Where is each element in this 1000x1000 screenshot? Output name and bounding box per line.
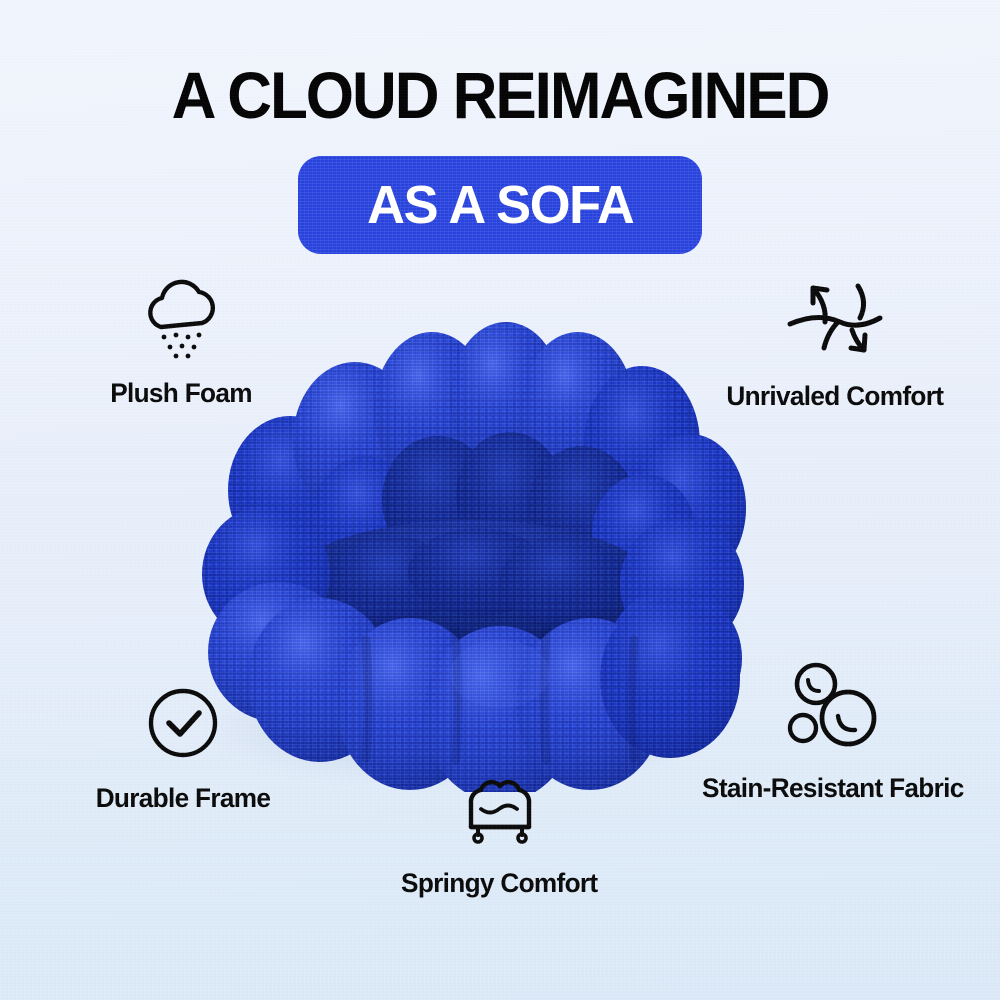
bubbles-icon: [778, 662, 888, 759]
sofa-icon: [445, 765, 555, 856]
page-title: A CLOUD REIMAGINED: [30, 62, 970, 128]
feature-plush-foam: Plush Foam: [56, 275, 306, 409]
feature-springy-comfort: Springy Comfort: [372, 765, 627, 899]
sofa-highlight: [450, 640, 550, 708]
subtitle-badge: AS A SOFA: [298, 156, 702, 254]
feature-label: Springy Comfort: [401, 868, 597, 899]
feature-unrivaled-comfort: Unrivaled Comfort: [690, 272, 980, 412]
feature-stain-resistant-fabric: Stain-Resistant Fabric: [678, 662, 988, 804]
subtitle-badge-label: AS A SOFA: [367, 174, 633, 236]
feature-label: Unrivaled Comfort: [727, 381, 944, 412]
cloud-drizzle-icon: [131, 275, 231, 368]
feature-label: Stain-Resistant Fabric: [702, 773, 964, 804]
poster-canvas: A CLOUD REIMAGINED AS A SOFA Plush Foam: [0, 0, 1000, 1000]
check-circle-icon: [140, 680, 226, 771]
feature-label: Durable Frame: [96, 783, 271, 814]
feature-label: Plush Foam: [110, 378, 252, 409]
feature-durable-frame: Durable Frame: [58, 680, 308, 814]
flex-arrows-icon: [780, 272, 890, 367]
